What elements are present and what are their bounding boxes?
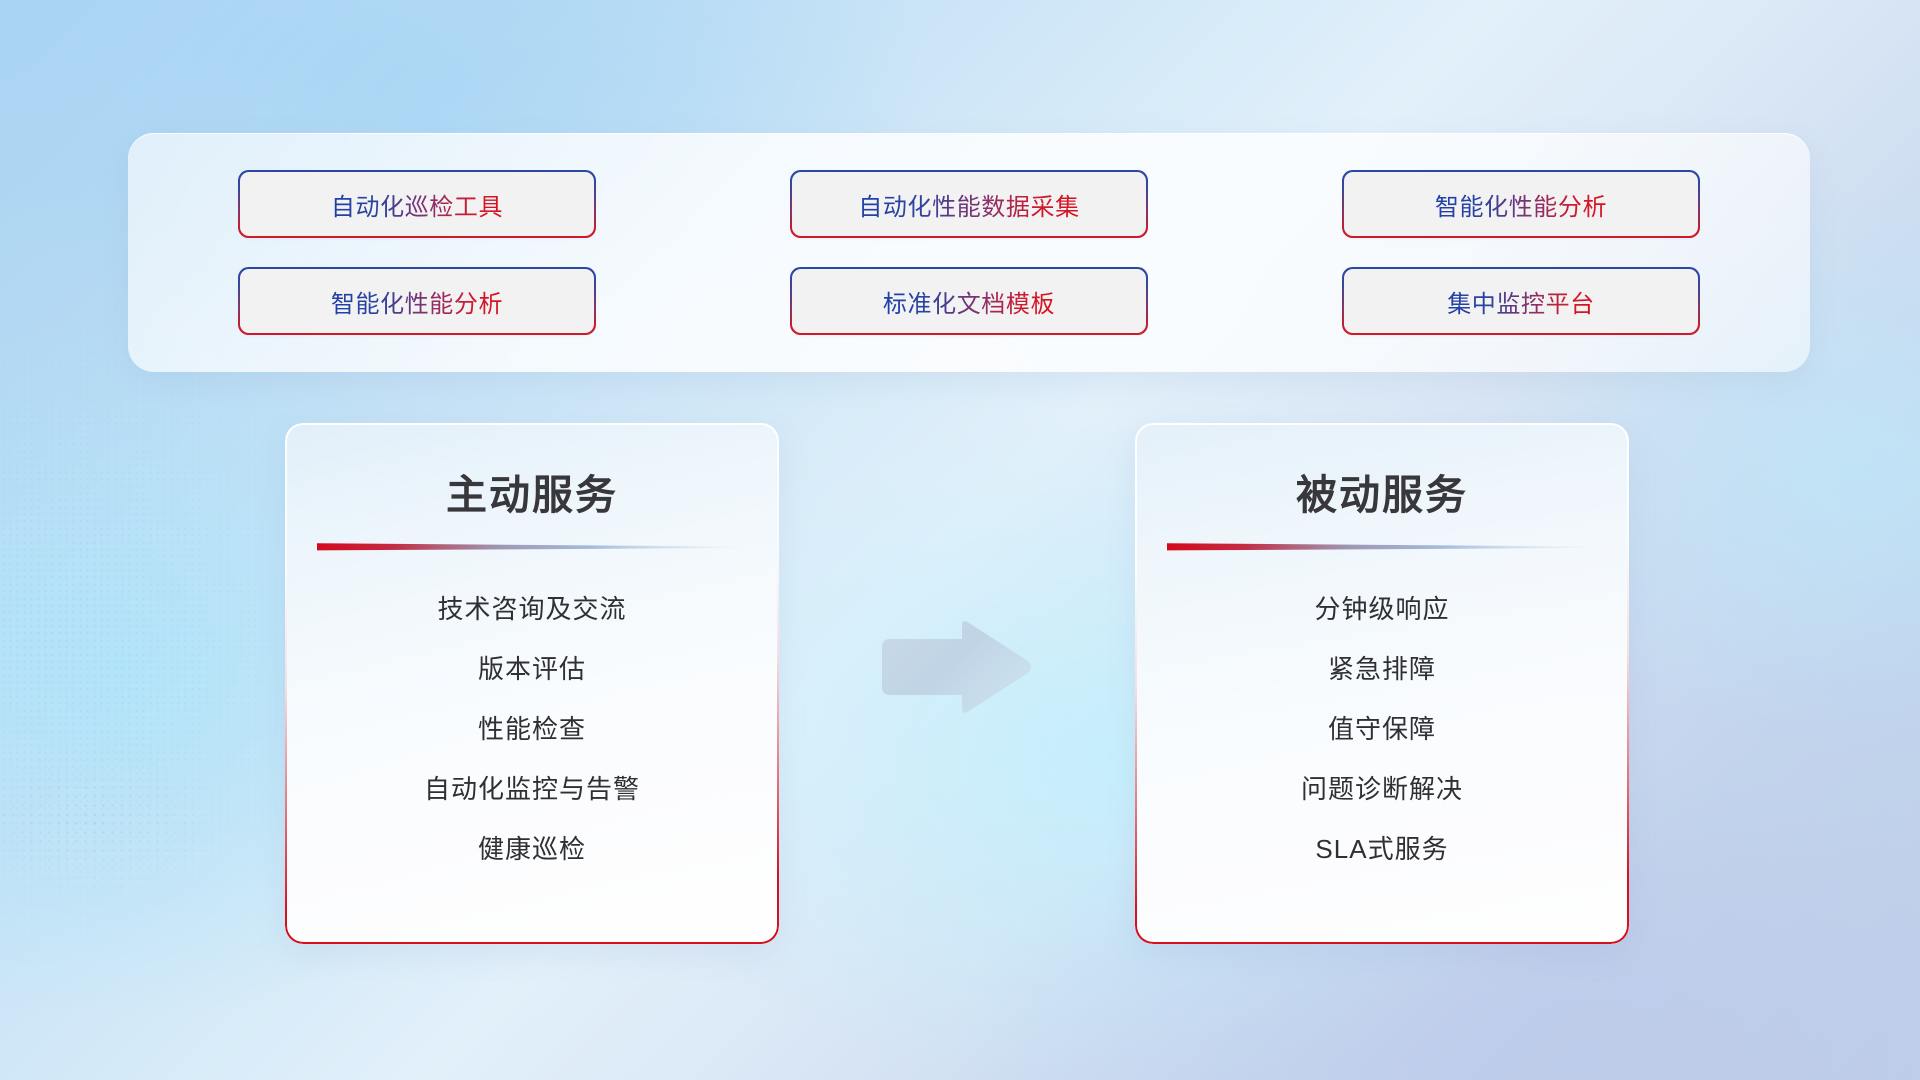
capability-pill-label: 智能化性能分析 <box>1435 187 1607 222</box>
service-card-reactive: 被动服务 分钟级响应 紧急排障 值守保障 问题诊断解决 SLA式服务 <box>1135 423 1629 944</box>
right-arrow-icon <box>876 617 1036 717</box>
capability-pill-label: 标准化文档模板 <box>883 284 1055 319</box>
capability-pill-3[interactable]: 智能化性能分析 <box>1344 172 1698 236</box>
capability-pill-label: 集中监控平台 <box>1447 284 1595 319</box>
card-list-item: 紧急排障 <box>1135 639 1629 699</box>
capability-pill-1[interactable]: 自动化巡检工具 <box>240 172 594 236</box>
card-list-item: 分钟级响应 <box>1135 579 1629 639</box>
card-item-list-reactive: 分钟级响应 紧急排障 值守保障 问题诊断解决 SLA式服务 <box>1135 579 1629 879</box>
card-list-item: SLA式服务 <box>1135 819 1629 879</box>
card-list-item: 技术咨询及交流 <box>285 579 779 639</box>
capability-pill-label: 自动化巡检工具 <box>331 187 503 222</box>
card-divider-proactive <box>317 542 747 552</box>
card-list-item: 健康巡检 <box>285 819 779 879</box>
card-title: 主动服务 <box>285 461 779 521</box>
capability-pill-label: 智能化性能分析 <box>331 284 503 319</box>
card-list-item: 版本评估 <box>285 639 779 699</box>
card-divider-reactive <box>1167 542 1597 552</box>
card-list-item: 值守保障 <box>1135 699 1629 759</box>
capability-pill-4[interactable]: 智能化性能分析 <box>240 269 594 333</box>
card-list-item: 问题诊断解决 <box>1135 759 1629 819</box>
card-title: 被动服务 <box>1135 461 1629 521</box>
card-item-list-proactive: 技术咨询及交流 版本评估 性能检查 自动化监控与告警 健康巡检 <box>285 579 779 879</box>
capability-pill-5[interactable]: 标准化文档模板 <box>792 269 1146 333</box>
capability-pill-6[interactable]: 集中监控平台 <box>1344 269 1698 333</box>
service-card-proactive: 主动服务 技术咨询及交流 版本评估 性能检查 自动化监控与告警 健康巡检 <box>285 423 779 944</box>
capability-pill-2[interactable]: 自动化性能数据采集 <box>792 172 1146 236</box>
capability-pill-grid: 自动化巡检工具 自动化性能数据采集 智能化性能分析 智能化性能分析 标准化文档模… <box>240 172 1698 333</box>
card-list-item: 自动化监控与告警 <box>285 759 779 819</box>
card-list-item: 性能检查 <box>285 699 779 759</box>
capability-pill-label: 自动化性能数据采集 <box>858 187 1079 222</box>
capability-panel: 自动化巡检工具 自动化性能数据采集 智能化性能分析 智能化性能分析 标准化文档模… <box>128 133 1810 372</box>
